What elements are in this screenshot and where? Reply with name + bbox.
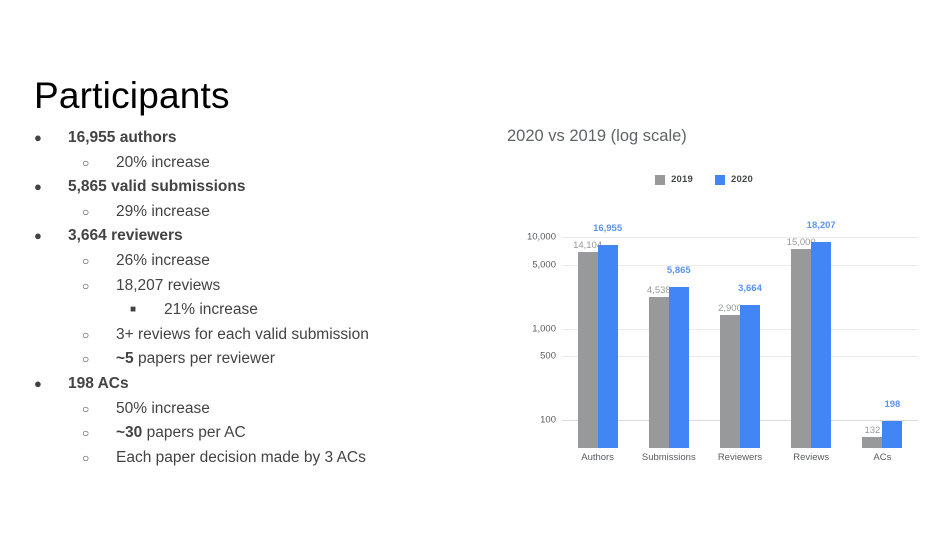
list-item: ○20% increase	[34, 151, 464, 176]
circle-bullet-icon: ○	[82, 446, 116, 471]
legend-entry[interactable]: 2019	[655, 174, 693, 185]
list-item: ○26% increase	[34, 249, 464, 274]
circle-bullet-icon: ○	[82, 274, 116, 299]
y-axis-tick-label: 5,000	[486, 259, 556, 270]
list-item-label: 198 ACs	[68, 372, 464, 397]
circle-bullet-icon: ○	[82, 249, 116, 274]
list-item: ○3+ reviews for each valid submission	[34, 323, 464, 348]
bar-value-label: 16,955	[588, 223, 628, 234]
list-item-label: 50% increase	[116, 397, 464, 422]
y-axis-tick-label: 100	[486, 415, 556, 426]
list-item: ○Each paper decision made by 3 ACs	[34, 446, 464, 471]
disc-bullet-icon: ●	[34, 126, 68, 151]
square-bullet-icon: ■	[130, 298, 164, 323]
circle-bullet-icon: ○	[82, 200, 116, 225]
disc-bullet-icon: ●	[34, 372, 68, 397]
list-item-label: ~30 papers per AC	[116, 421, 464, 446]
list-item-label: 29% increase	[116, 200, 464, 225]
chart-legend: 20192020	[478, 174, 930, 185]
bar-group: 4,5385,865Submissions	[633, 238, 704, 448]
legend-label: 2019	[671, 174, 693, 185]
bar-group: 14,10416,955Authors	[562, 238, 633, 448]
bar-2020-authors[interactable]	[598, 245, 618, 448]
list-item-label: 21% increase	[164, 298, 464, 323]
bar-2020-reviews[interactable]	[811, 242, 831, 448]
bar-2019-authors[interactable]	[578, 252, 598, 448]
bar-group: 15,00018,207Reviews	[776, 238, 847, 448]
circle-bullet-icon: ○	[82, 347, 116, 372]
bar-2020-acs[interactable]	[882, 421, 902, 448]
legend-swatch-icon	[715, 175, 725, 185]
participants-bullet-list: ●16,955 authors○20% increase●5,865 valid…	[34, 126, 464, 470]
list-item: ○29% increase	[34, 200, 464, 225]
y-axis-tick-label: 1,000	[486, 323, 556, 334]
chart-title: 2020 vs 2019 (log scale)	[507, 127, 687, 146]
bar-2019-acs[interactable]	[862, 437, 882, 448]
x-axis-tick-label: ACs	[832, 452, 932, 463]
circle-bullet-icon: ○	[82, 323, 116, 348]
disc-bullet-icon: ●	[34, 224, 68, 249]
list-item-label: 16,955 authors	[68, 126, 464, 151]
list-item: ○~30 papers per AC	[34, 421, 464, 446]
list-item-label: ~5 papers per reviewer	[116, 347, 464, 372]
bar-2020-reviewers[interactable]	[740, 305, 760, 448]
y-axis-tick-label: 500	[486, 351, 556, 362]
list-item: ●3,664 reviewers	[34, 224, 464, 249]
list-item: ○18,207 reviews	[34, 274, 464, 299]
bar-2019-reviewers[interactable]	[720, 315, 740, 448]
page-title: Participants	[34, 74, 230, 118]
bar-pair	[578, 238, 618, 448]
bar-pair	[720, 238, 760, 448]
chart-panel: 2020 vs 2019 (log scale) 20192020 100500…	[478, 118, 930, 448]
chart-plot-area: 1005001,0005,00010,00014,10416,955Author…	[478, 210, 930, 448]
bar-2020-submissions[interactable]	[669, 287, 689, 448]
list-item: ●5,865 valid submissions	[34, 175, 464, 200]
bar-2019-submissions[interactable]	[649, 297, 669, 448]
list-item: ○~5 papers per reviewer	[34, 347, 464, 372]
circle-bullet-icon: ○	[82, 151, 116, 176]
bar-group: 132198ACs	[847, 238, 918, 448]
list-item: ■21% increase	[34, 298, 464, 323]
list-item-label: 20% increase	[116, 151, 464, 176]
list-item-label: 3+ reviews for each valid submission	[116, 323, 464, 348]
circle-bullet-icon: ○	[82, 421, 116, 446]
legend-entry[interactable]: 2020	[715, 174, 753, 185]
circle-bullet-icon: ○	[82, 397, 116, 422]
bar-group: 2,9003,664Reviewers	[704, 238, 775, 448]
bar-value-label: 18,207	[801, 220, 841, 231]
list-item-label: 3,664 reviewers	[68, 224, 464, 249]
list-item: ●16,955 authors	[34, 126, 464, 151]
bar-pair	[791, 238, 831, 448]
y-axis-tick-label: 10,000	[486, 232, 556, 243]
list-item-label: 5,865 valid submissions	[68, 175, 464, 200]
disc-bullet-icon: ●	[34, 175, 68, 200]
bar-2019-reviews[interactable]	[791, 249, 811, 448]
legend-swatch-icon	[655, 175, 665, 185]
list-item: ○50% increase	[34, 397, 464, 422]
list-item-label: Each paper decision made by 3 ACs	[116, 446, 464, 471]
list-item-label: 26% increase	[116, 249, 464, 274]
legend-label: 2020	[731, 174, 753, 185]
list-item: ●198 ACs	[34, 372, 464, 397]
list-item-label: 18,207 reviews	[116, 274, 464, 299]
bar-pair	[862, 238, 902, 448]
bar-pair	[649, 238, 689, 448]
